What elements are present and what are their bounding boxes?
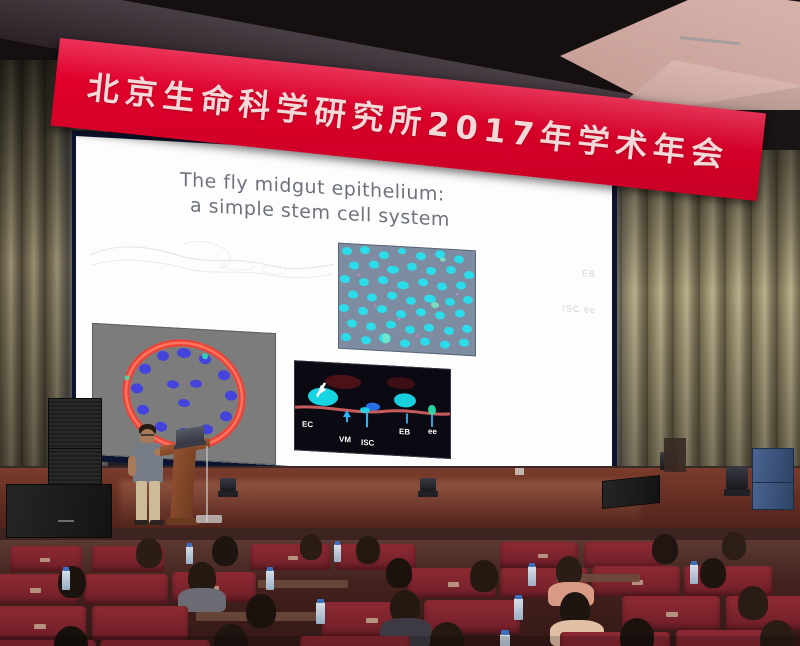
podium-body bbox=[170, 450, 196, 524]
fly-gut-line-drawing bbox=[88, 229, 338, 303]
blue-speaker-cabinet-top bbox=[752, 448, 794, 484]
audience-head bbox=[470, 560, 498, 592]
seat[interactable] bbox=[84, 574, 168, 604]
cell-label-vm: VM bbox=[339, 435, 351, 445]
pa-speaker-top-left bbox=[48, 398, 102, 452]
row-shadow bbox=[0, 636, 800, 646]
audience-head bbox=[300, 534, 322, 560]
moving-head-light-1 bbox=[220, 478, 236, 492]
water-bottle-cap bbox=[267, 567, 273, 571]
auditorium-photo: The fly midgut epithelium: a simple stem… bbox=[0, 0, 800, 646]
seat-number-tag bbox=[30, 588, 41, 593]
water-bottle[interactable] bbox=[514, 598, 523, 620]
cell-label-eb: EB bbox=[399, 427, 410, 437]
seat[interactable] bbox=[584, 542, 662, 568]
presenter-leg-right bbox=[149, 481, 160, 523]
audience-head bbox=[212, 536, 238, 566]
seat-number-tag bbox=[288, 556, 298, 560]
water-bottle[interactable] bbox=[316, 602, 325, 624]
slide-faint-label-1: EB bbox=[582, 268, 596, 279]
water-bottle[interactable] bbox=[528, 566, 536, 586]
seat-number-tag bbox=[40, 558, 50, 562]
moving-head-light-3 bbox=[726, 466, 748, 490]
slide-title: The fly midgut epithelium: a simple stem… bbox=[180, 168, 560, 239]
seat-number-tag bbox=[34, 624, 46, 629]
presenter-leg-left bbox=[136, 481, 147, 523]
cyan-nuclei-micrograph bbox=[338, 243, 476, 357]
presenter-head bbox=[140, 429, 155, 444]
audience-head bbox=[738, 586, 768, 620]
water-bottle-cap bbox=[63, 567, 69, 571]
cable-box-on-stage bbox=[196, 515, 222, 523]
stool-behind-curtain bbox=[664, 438, 686, 472]
presenter-shoe-left bbox=[134, 520, 148, 525]
audience-head bbox=[356, 536, 380, 564]
seat-number-tag bbox=[448, 582, 459, 587]
water-bottle[interactable] bbox=[266, 570, 274, 590]
moving-head-light-2 bbox=[420, 478, 436, 492]
epithelium-layer-micrograph: EC VM ISC EB ee bbox=[294, 360, 451, 459]
slide-faint-label-2: ISC ee bbox=[562, 303, 596, 315]
seat-number-tag bbox=[538, 554, 548, 558]
subwoofer-left bbox=[6, 484, 112, 538]
blue-speaker-cabinet-bottom bbox=[752, 482, 794, 510]
subwoofer-badge bbox=[58, 520, 74, 522]
moving-head-light-base-2 bbox=[418, 491, 438, 497]
water-bottle[interactable] bbox=[690, 564, 698, 584]
cell-label-ee: ee bbox=[428, 427, 437, 436]
water-bottle[interactable] bbox=[62, 570, 70, 590]
audience-head bbox=[722, 532, 746, 560]
audience-head bbox=[136, 538, 162, 568]
water-bottle[interactable] bbox=[334, 544, 341, 562]
seat-number-tag bbox=[366, 618, 378, 623]
water-bottle-cap bbox=[187, 543, 192, 547]
audience-head bbox=[652, 534, 678, 564]
stage-floor-marker bbox=[515, 468, 524, 475]
water-bottle[interactable] bbox=[186, 546, 193, 564]
presenter-shoe-right bbox=[150, 520, 164, 525]
water-bottle-cap bbox=[317, 599, 324, 603]
seat[interactable] bbox=[92, 606, 188, 640]
moving-head-light-base-1 bbox=[218, 491, 238, 497]
projection-screen: The fly midgut epithelium: a simple stem… bbox=[76, 136, 612, 484]
audience-head bbox=[386, 558, 412, 588]
mic-stand bbox=[206, 446, 208, 522]
water-bottle-cap bbox=[501, 630, 509, 635]
presenter-arm-left bbox=[128, 456, 136, 476]
cell-label-ec: EC bbox=[302, 420, 313, 430]
audience-head bbox=[700, 558, 726, 588]
cell-label-isc: ISC bbox=[361, 438, 374, 448]
water-bottle-cap bbox=[691, 561, 697, 565]
audience-head bbox=[246, 594, 276, 628]
water-bottle-cap bbox=[529, 563, 535, 567]
water-bottle-cap bbox=[515, 595, 522, 599]
seat-number-tag bbox=[666, 612, 678, 617]
water-bottle-cap bbox=[335, 541, 340, 545]
presenter-glasses bbox=[141, 434, 154, 436]
podium-base bbox=[166, 518, 200, 525]
moving-head-light-base-3 bbox=[724, 489, 750, 496]
audience-area bbox=[0, 540, 800, 646]
